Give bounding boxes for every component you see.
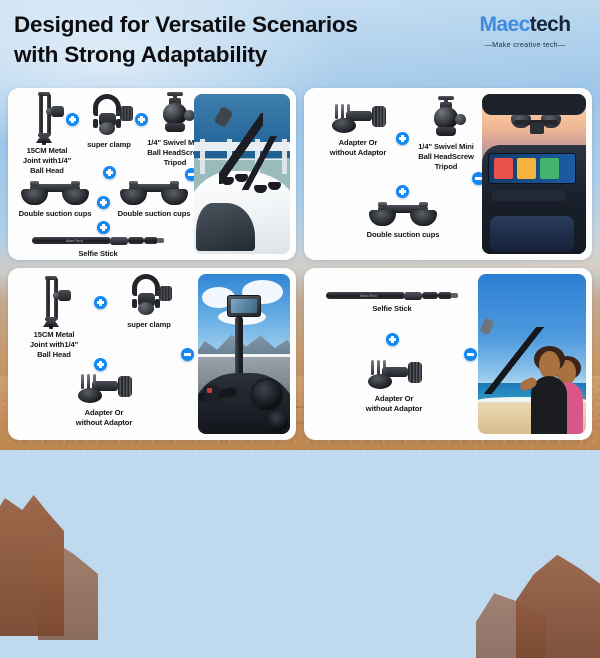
brand-logo: Maectech —Make creative tech— — [462, 14, 588, 49]
super-clamp-icon — [87, 94, 133, 138]
plus-badge — [97, 196, 110, 209]
plus-badge — [396, 132, 409, 145]
part-label: Adapter Or without Adaptor — [348, 394, 440, 414]
part-label: Double suction cups — [113, 209, 195, 219]
scene-ocean-car — [194, 94, 290, 254]
part-metal-joint: 15CM Metal Joint with1/4" Ball Head — [14, 92, 80, 176]
part-label: Adapter Or without Adaptor — [60, 408, 148, 428]
part-label: 1/4" Swivel Mini Ball HeadScrew Tripod — [414, 142, 478, 172]
panel-motorcycle[interactable]: 15CM Metal Joint with1/4" Ball Head supe… — [8, 268, 296, 440]
plus-badge — [103, 166, 116, 179]
part-double-suction-cups: Double suction cups — [361, 202, 445, 240]
part-label: super clamp — [112, 320, 186, 330]
page-title-line-2: with Strong Adaptability — [14, 40, 454, 70]
metal-joint-icon — [27, 92, 67, 144]
part-label: Selfie Stick — [28, 249, 168, 259]
photo-beach-selfie — [478, 274, 586, 434]
panel-motorcycle-parts: 15CM Metal Joint with1/4" Ball Head supe… — [8, 268, 198, 440]
panel-car-roof-parts: 15CM Metal Joint with1/4" Ball Head supe… — [8, 88, 194, 260]
part-label: Adapter Or without Adaptor — [316, 138, 400, 158]
part-label: Selfie Stick — [322, 304, 462, 314]
plus-badge — [94, 296, 107, 309]
plus-badge — [396, 185, 409, 198]
brand-wordmark-secondary: tech — [530, 13, 571, 36]
part-selfie-stick: MaecTech Selfie Stick — [28, 233, 168, 259]
double-suction-cups-icon — [368, 202, 438, 228]
brand-tagline: —Make creative tech— — [462, 40, 588, 49]
double-suction-cups-icon — [119, 181, 189, 207]
equals-badge — [181, 348, 194, 361]
adapter-icon — [76, 372, 132, 406]
part-label: Double suction cups — [14, 209, 96, 219]
page-title: Designed for Versatile Scenarios with St… — [14, 10, 454, 69]
panel-car-roof[interactable]: 15CM Metal Joint with1/4" Ball Head supe… — [8, 88, 296, 260]
ball-head-tripod-icon — [158, 92, 192, 136]
part-selfie-stick: MaecTech Selfie Stick — [322, 288, 462, 314]
equals-badge — [464, 348, 477, 361]
brand-wordmark: Maectech — [462, 14, 588, 35]
scenario-panel-grid: 15CM Metal Joint with1/4" Ball Head supe… — [8, 88, 592, 440]
part-label: 15CM Metal Joint with1/4" Ball Head — [16, 330, 92, 360]
panel-car-interior[interactable]: Adapter Or without Adaptor 1/4" Swivel M… — [304, 88, 592, 260]
ball-head-tripod-icon — [429, 96, 463, 140]
part-adapter: Adapter Or without Adaptor — [348, 358, 440, 414]
part-super-clamp: super clamp — [78, 94, 140, 150]
header: Designed for Versatile Scenarios with St… — [0, 0, 600, 86]
photo-motorcycle-mount — [198, 274, 290, 434]
plus-badge — [94, 358, 107, 371]
part-metal-joint: 15CM Metal Joint with1/4" Ball Head — [16, 276, 92, 360]
brand-wordmark-primary: Maec — [480, 13, 530, 36]
super-clamp-icon — [126, 274, 172, 318]
part-label: super clamp — [78, 140, 140, 150]
plus-badge — [386, 333, 399, 346]
page-title-line-1: Designed for Versatile Scenarios — [14, 10, 454, 40]
photo-car-interior-mount — [482, 94, 586, 254]
panel-selfie[interactable]: MaecTech Selfie Stick Adapter Or without… — [304, 268, 592, 440]
scene-motorcycle — [198, 274, 290, 434]
part-double-suction-cups-left: Double suction cups — [14, 181, 96, 219]
scene-beach — [478, 274, 586, 434]
selfie-stick-icon: MaecTech — [326, 288, 458, 302]
panel-car-interior-parts: Adapter Or without Adaptor 1/4" Swivel M… — [304, 88, 482, 260]
adapter-icon — [330, 102, 386, 136]
part-adapter: Adapter Or without Adaptor — [316, 102, 400, 158]
scene-car-interior — [482, 94, 586, 254]
part-double-suction-cups-right: Double suction cups — [113, 181, 195, 219]
double-suction-cups-icon — [20, 181, 90, 207]
part-super-clamp: super clamp — [112, 274, 186, 330]
part-label: 15CM Metal Joint with1/4" Ball Head — [14, 146, 80, 176]
part-label: Double suction cups — [361, 230, 445, 240]
photo-car-roof-mount — [194, 94, 290, 254]
adapter-icon — [366, 358, 422, 392]
panel-selfie-parts: MaecTech Selfie Stick Adapter Or without… — [304, 268, 478, 440]
part-adapter: Adapter Or without Adaptor — [60, 372, 148, 428]
part-ball-head-tripod: 1/4" Swivel Mini Ball HeadScrew Tripod — [414, 96, 478, 172]
selfie-stick-icon: MaecTech — [32, 233, 164, 247]
metal-joint-icon — [34, 276, 74, 328]
